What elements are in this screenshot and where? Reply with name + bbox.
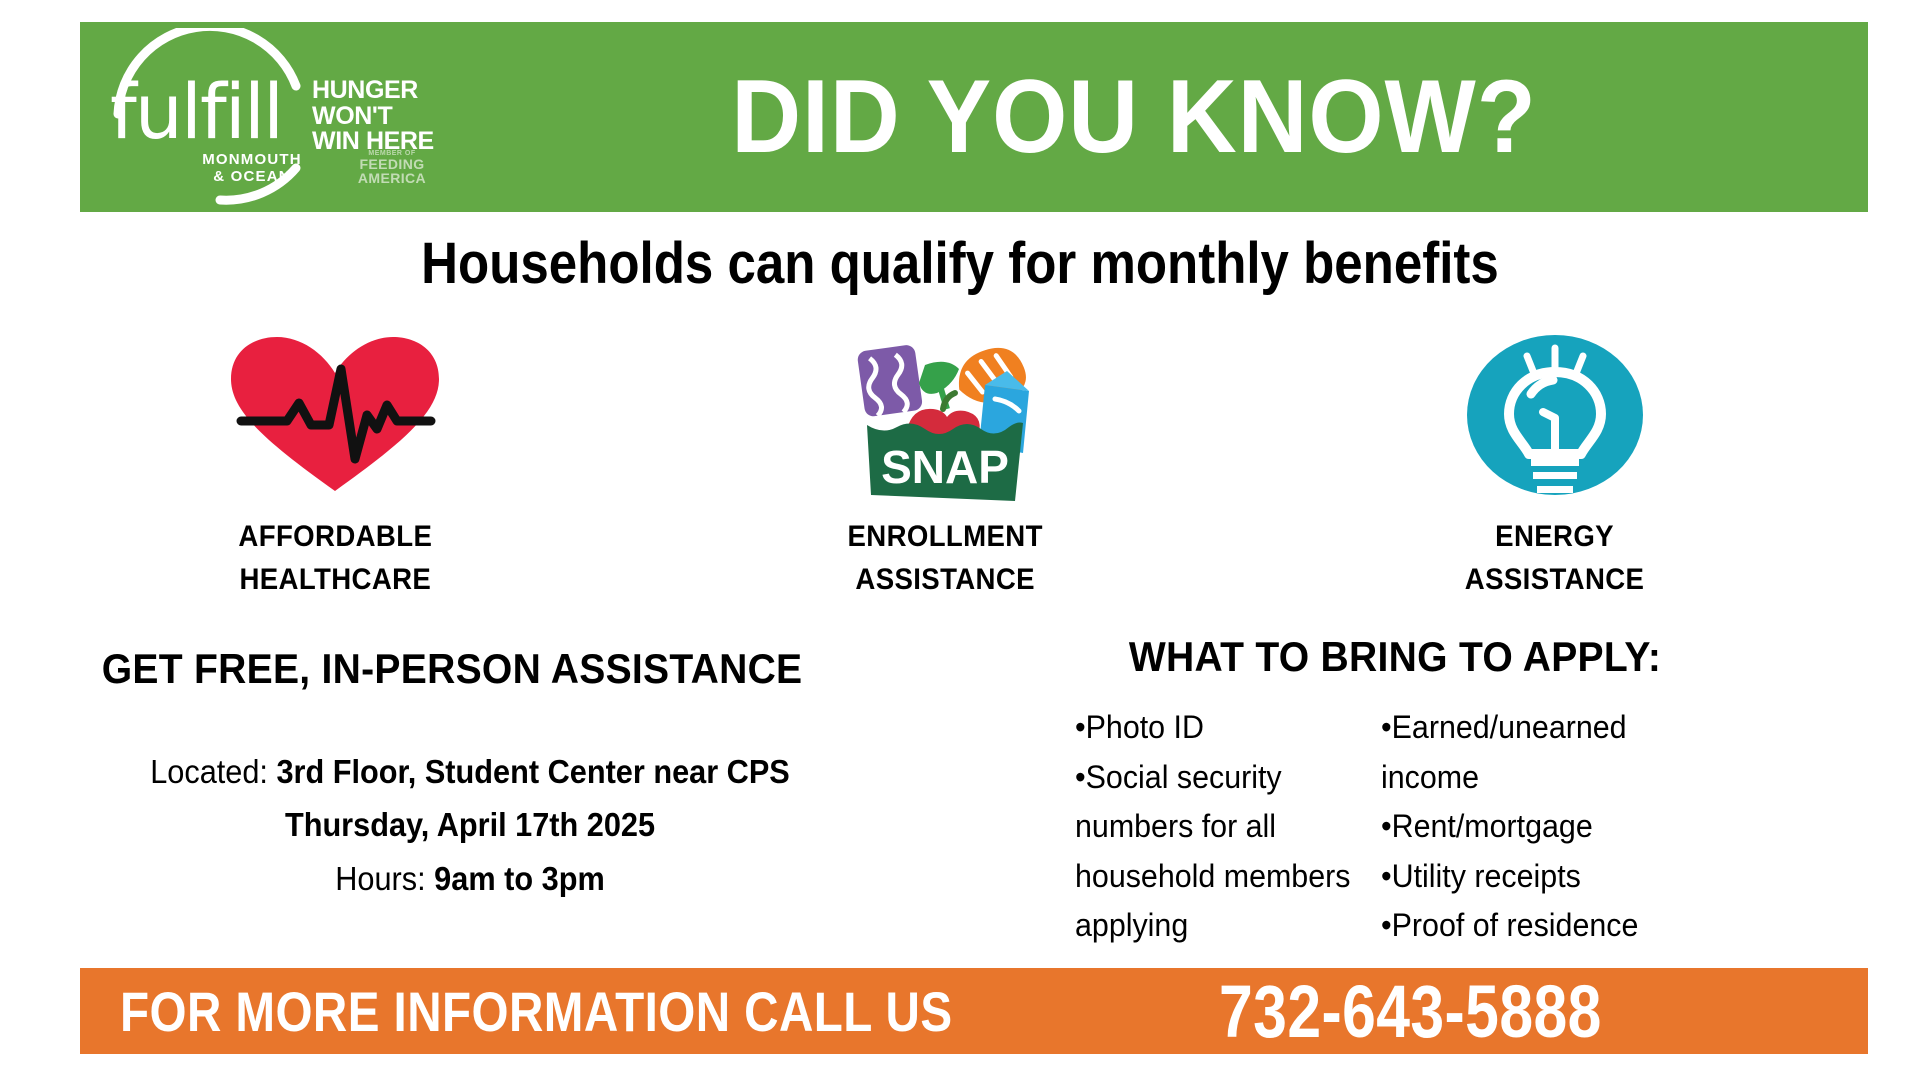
bring-list-column-a: •Photo ID •Social security numbers for a… bbox=[1075, 703, 1360, 951]
assistance-details: Located: 3rd Floor, Student Center near … bbox=[98, 745, 842, 905]
snap-grocery-bag-icon: SNAP bbox=[845, 330, 1045, 500]
benefit-enrollment: SNAP ENROLLMENT ASSISTANCE bbox=[640, 330, 1250, 610]
list-item: •Photo ID bbox=[1075, 703, 1360, 753]
assistance-heading: GET FREE, IN-PERSON ASSISTANCE bbox=[98, 645, 842, 693]
caption-line1: ENROLLMENT bbox=[847, 516, 1042, 559]
assistance-date-line: Thursday, April 17th 2025 bbox=[98, 798, 842, 851]
feeding-america-logo: MEMBER OF FEEDING AMERICA bbox=[332, 150, 452, 186]
feeding-name-line2: AMERICA bbox=[332, 171, 452, 185]
list-item: •Proof of residence bbox=[1381, 901, 1666, 951]
benefit-healthcare-caption: AFFORDABLE HEALTHCARE bbox=[238, 516, 432, 601]
fulfill-logo: fulfill MONMOUTH & OCEAN HUNGER WON'T WI… bbox=[80, 22, 480, 212]
benefits-row: AFFORDABLE HEALTHCARE bbox=[0, 330, 1920, 610]
footer-bar: FOR MORE INFORMATION CALL US 732-643-588… bbox=[80, 968, 1868, 1054]
located-value: 3rd Floor, Student Center near CPS bbox=[276, 753, 789, 790]
assistance-block: GET FREE, IN-PERSON ASSISTANCE Located: … bbox=[70, 645, 870, 905]
bring-heading: WHAT TO BRING TO APPLY: bbox=[1097, 633, 1692, 681]
logo-wordmark: fulfill bbox=[110, 74, 282, 150]
flyer-canvas: fulfill MONMOUTH & OCEAN HUNGER WON'T WI… bbox=[0, 0, 1920, 1080]
list-item: •Utility receipts bbox=[1381, 852, 1666, 902]
caption-line2: ASSISTANCE bbox=[1465, 559, 1645, 602]
header-band: fulfill MONMOUTH & OCEAN HUNGER WON'T WI… bbox=[80, 22, 1868, 212]
logo-region-line2: & OCEAN bbox=[192, 169, 312, 186]
caption-line2: ASSISTANCE bbox=[847, 559, 1042, 602]
list-item: numbers for all bbox=[1075, 802, 1360, 852]
date-value: Thursday, April 17th 2025 bbox=[285, 806, 655, 843]
benefit-energy: ENERGY ASSISTANCE bbox=[1250, 330, 1860, 610]
located-label: Located: bbox=[150, 753, 268, 790]
assistance-hours-line: Hours: 9am to 3pm bbox=[98, 852, 842, 905]
tagline-line2: WON'T bbox=[312, 104, 434, 130]
list-item: applying bbox=[1075, 901, 1360, 951]
caption-line1: AFFORDABLE bbox=[238, 516, 432, 559]
assistance-location-line: Located: 3rd Floor, Student Center near … bbox=[98, 745, 842, 798]
benefit-energy-caption: ENERGY ASSISTANCE bbox=[1465, 516, 1645, 601]
bring-list-column-b: •Earned/unearned income •Rent/mortgage •… bbox=[1381, 703, 1666, 951]
lower-content: GET FREE, IN-PERSON ASSISTANCE Located: … bbox=[0, 645, 1920, 960]
caption-line2: HEALTHCARE bbox=[238, 559, 432, 602]
list-item: •Rent/mortgage bbox=[1381, 802, 1666, 852]
hours-value: 9am to 3pm bbox=[434, 860, 605, 897]
list-item: income bbox=[1381, 753, 1666, 803]
logo-region-line1: MONMOUTH bbox=[192, 152, 312, 169]
list-item: household members bbox=[1075, 852, 1360, 902]
bring-block: WHAT TO BRING TO APPLY: •Photo ID •Socia… bbox=[1075, 633, 1715, 951]
tagline-line1: HUNGER bbox=[312, 78, 434, 104]
footer-call-text: FOR MORE INFORMATION CALL US bbox=[120, 979, 953, 1044]
logo-tagline: HUNGER WON'T WIN HERE bbox=[312, 78, 434, 155]
bring-lists: •Photo ID •Social security numbers for a… bbox=[1075, 703, 1715, 951]
benefit-enrollment-caption: ENROLLMENT ASSISTANCE bbox=[847, 516, 1042, 601]
feeding-name-line1: FEEDING bbox=[332, 157, 452, 171]
page-title: DID YOU KNOW? bbox=[529, 65, 1820, 169]
caption-line1: ENERGY bbox=[1465, 516, 1645, 559]
logo-region: MONMOUTH & OCEAN bbox=[192, 152, 312, 186]
subtitle: Households can qualify for monthly benef… bbox=[115, 230, 1805, 297]
benefit-healthcare: AFFORDABLE HEALTHCARE bbox=[30, 330, 640, 610]
snap-wordmark: SNAP bbox=[881, 441, 1009, 493]
lightbulb-icon bbox=[1465, 330, 1645, 500]
hours-label: Hours: bbox=[335, 860, 425, 897]
list-item: •Earned/unearned bbox=[1381, 703, 1666, 753]
footer-phone-number[interactable]: 732-643-5888 bbox=[1219, 969, 1602, 1054]
heart-pulse-icon bbox=[225, 330, 445, 500]
list-item: •Social security bbox=[1075, 753, 1360, 803]
